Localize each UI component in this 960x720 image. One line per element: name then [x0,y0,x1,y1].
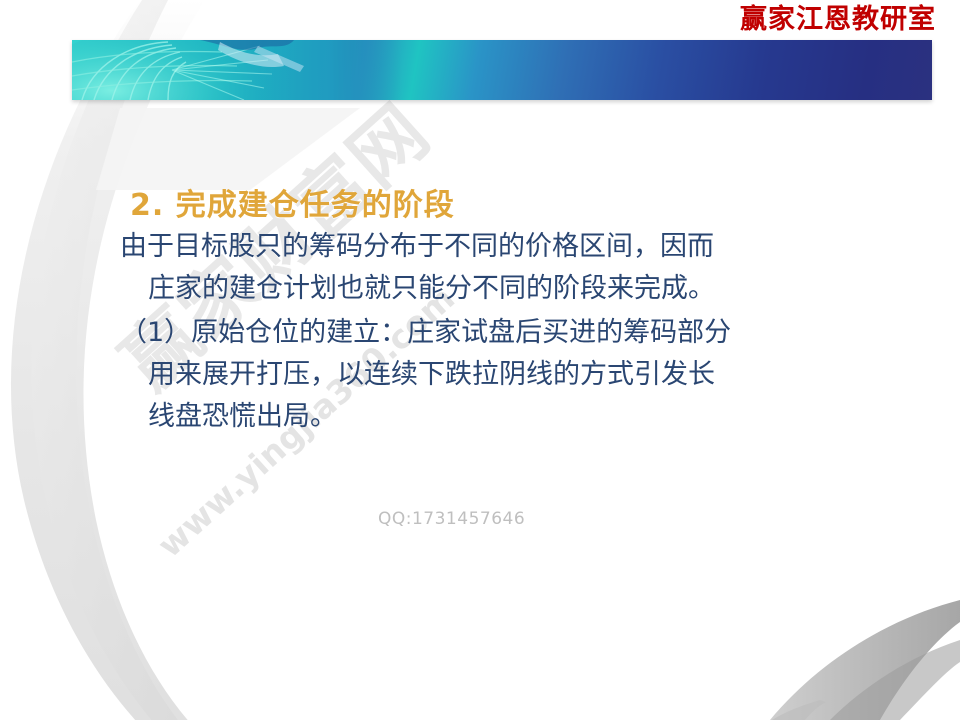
paragraph-2-line-3: 线盘恐慌出局。 [120,396,731,438]
paragraph-1: 由于目标股只的筹码分布于不同的价格区间，因而 庄家的建仓计划也就只能分不同的阶段… [120,226,715,310]
paragraph-1-line-1: 由于目标股只的筹码分布于不同的价格区间，因而 [120,231,714,262]
paragraph-2-line-2: 用来展开打压，以连续下跌拉阴线的方式引发长 [120,354,731,396]
section-heading: 2. 完成建仓任务的阶段 [130,180,455,224]
qq-note: QQ:1731457646 [378,509,525,529]
paragraph-2-line-1: （1）原始仓位的建立：庄家试盘后买进的筹码部分 [120,317,731,348]
paragraph-2: （1）原始仓位的建立：庄家试盘后买进的筹码部分 用来展开打压，以连续下跌拉阴线的… [120,312,731,438]
paragraph-1-line-2: 庄家的建仓计划也就只能分不同的阶段来完成。 [120,268,715,310]
slide-canvas: 赢家江恩教研室 [0,0,960,720]
footer: 江 赢 恩 家 赢家财富网 www.yjcf360.com 地址：郑州市经三路与… [0,608,960,720]
